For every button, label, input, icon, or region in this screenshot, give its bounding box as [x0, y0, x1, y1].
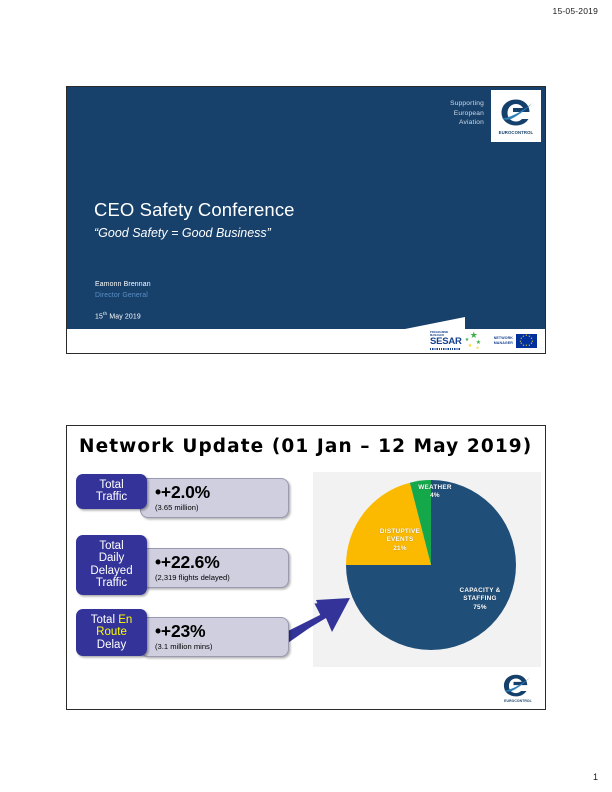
- sesar-wordmark: SESAR: [430, 337, 462, 347]
- pie-label-capacity-staffing: CAPACITY & STAFFING 75%: [449, 587, 511, 612]
- date-month-year: May 2019: [107, 313, 141, 320]
- pie-label-text: EVENTS: [371, 536, 429, 544]
- tagline-line-2: European: [450, 109, 484, 119]
- network-manager-logo: NETWORK MANAGER ★ ★ ★ ★ ★ ★ ★ ★ ★ ★ ★ ★: [494, 334, 537, 348]
- stat-label-line: Traffic: [78, 491, 145, 503]
- stat-detail: (2,319 flights delayed): [155, 573, 288, 582]
- stat-label-line: Total: [78, 479, 145, 491]
- delay-causes-pie-chart: WEATHER 4% DISTUPTIVE EVENTS 21% CAPACIT…: [313, 472, 541, 692]
- stat-label-line: Traffic: [78, 577, 145, 589]
- eurocontrol-logo: EUROCONTROL: [501, 673, 535, 703]
- stat-value-card: •+23% (3.1 million mins): [140, 617, 289, 657]
- pie-slices: [341, 475, 521, 655]
- european-union-flag-icon: ★ ★ ★ ★ ★ ★ ★ ★ ★ ★ ★ ★: [516, 334, 537, 348]
- stat-label-segment: Total: [91, 614, 119, 626]
- stat-label-segment-highlight: Route: [78, 626, 145, 638]
- stat-label-segment-highlight: En: [118, 614, 132, 626]
- sesar-stars-icon: ★ ★ ★ ★ ★: [464, 331, 486, 351]
- stat-row: Total Daily Delayed Traffic •+22.6% (2,3…: [76, 535, 306, 607]
- stat-label-line: Total: [78, 540, 145, 552]
- footer-curve-decoration: [405, 317, 465, 329]
- date-day: 15: [95, 313, 103, 320]
- stat-label-total-daily-delayed-traffic: Total Daily Delayed Traffic: [76, 535, 147, 595]
- stat-label-line: Delay: [78, 639, 145, 651]
- star-icon: ★: [470, 331, 478, 340]
- pie-label-value: 21%: [371, 545, 429, 553]
- presentation-date: 15th May 2019: [95, 312, 141, 320]
- eurocontrol-logo: EUROCONTROL: [491, 90, 541, 142]
- stat-label-line: Total En: [78, 614, 145, 626]
- sesar-text: PROGRAMME MANAGER SESAR: [430, 331, 462, 349]
- sesar-underline-decoration: [430, 348, 460, 350]
- stat-value: •+2.0%: [155, 483, 288, 502]
- star-icon: ★: [476, 346, 480, 350]
- pie-label-value: 4%: [409, 492, 461, 500]
- author-name: Eamonn Brennan: [95, 281, 151, 288]
- stat-label-line: Daily: [78, 552, 145, 564]
- stat-value: •+23%: [155, 622, 288, 641]
- stat-label-line: Delayed: [78, 565, 145, 577]
- star-icon: ★: [468, 344, 472, 349]
- supporting-european-aviation-tagline: Supporting European Aviation: [450, 90, 491, 128]
- eurocontrol-wordmark: EUROCONTROL: [501, 699, 535, 703]
- eurocontrol-e-swoosh-icon: [498, 97, 534, 129]
- stat-detail: (3.1 million mins): [155, 642, 288, 651]
- page-subtitle: “Good Safety = Good Business”: [94, 226, 271, 240]
- pie-label-value: 75%: [449, 604, 511, 612]
- network-manager-line-2: MANAGER: [494, 341, 513, 345]
- eurocontrol-branding: Supporting European Aviation EUROCONTROL: [450, 90, 541, 142]
- page-date: 15-05-2019: [553, 6, 598, 16]
- slide-network-update: Network Update (01 Jan – 12 May 2019) To…: [66, 425, 546, 710]
- author-role: Director General: [95, 292, 148, 299]
- sesar-logo: PROGRAMME MANAGER SESAR ★ ★ ★ ★ ★: [430, 331, 486, 351]
- eurocontrol-wordmark: EUROCONTROL: [499, 130, 534, 135]
- stat-value-card: •+2.0% (3.65 million): [140, 478, 289, 518]
- stat-detail: (3.65 million): [155, 503, 288, 512]
- pie-label-disruptive-events: DISTUPTIVE EVENTS 21%: [371, 528, 429, 553]
- tagline-line-1: Supporting: [450, 99, 484, 109]
- page-title: CEO Safety Conference: [94, 199, 295, 221]
- tagline-line-3: Aviation: [450, 118, 484, 128]
- stat-row: Total En Route Delay •+23% (3.1 million …: [76, 609, 306, 673]
- stat-label-total-en-route-delay: Total En Route Delay: [76, 609, 147, 656]
- stat-value-card: •+22.6% (2,319 flights delayed): [140, 548, 289, 588]
- network-manager-text: NETWORK MANAGER: [494, 336, 513, 345]
- eurocontrol-e-swoosh-icon: [501, 673, 531, 699]
- stat-row: Total Traffic •+2.0% (3.65 million): [76, 472, 306, 533]
- page-number: 1: [593, 772, 598, 782]
- stat-rows: Total Traffic •+2.0% (3.65 million) Tota…: [76, 472, 306, 675]
- star-icon: ★: [465, 338, 469, 343]
- stat-label-total-traffic: Total Traffic: [76, 474, 147, 509]
- slide-footer-bar: PROGRAMME MANAGER SESAR ★ ★ ★ ★ ★ NETWOR…: [67, 329, 545, 353]
- slide-title: Supporting European Aviation EUROCONTROL…: [66, 86, 546, 354]
- network-update-title: Network Update (01 Jan – 12 May 2019): [79, 436, 532, 457]
- stat-value: •+22.6%: [155, 553, 288, 572]
- pie-label-text: STAFFING: [449, 595, 511, 603]
- pie-label-weather: WEATHER 4%: [409, 484, 461, 501]
- partner-logos: PROGRAMME MANAGER SESAR ★ ★ ★ ★ ★ NETWOR…: [430, 330, 537, 351]
